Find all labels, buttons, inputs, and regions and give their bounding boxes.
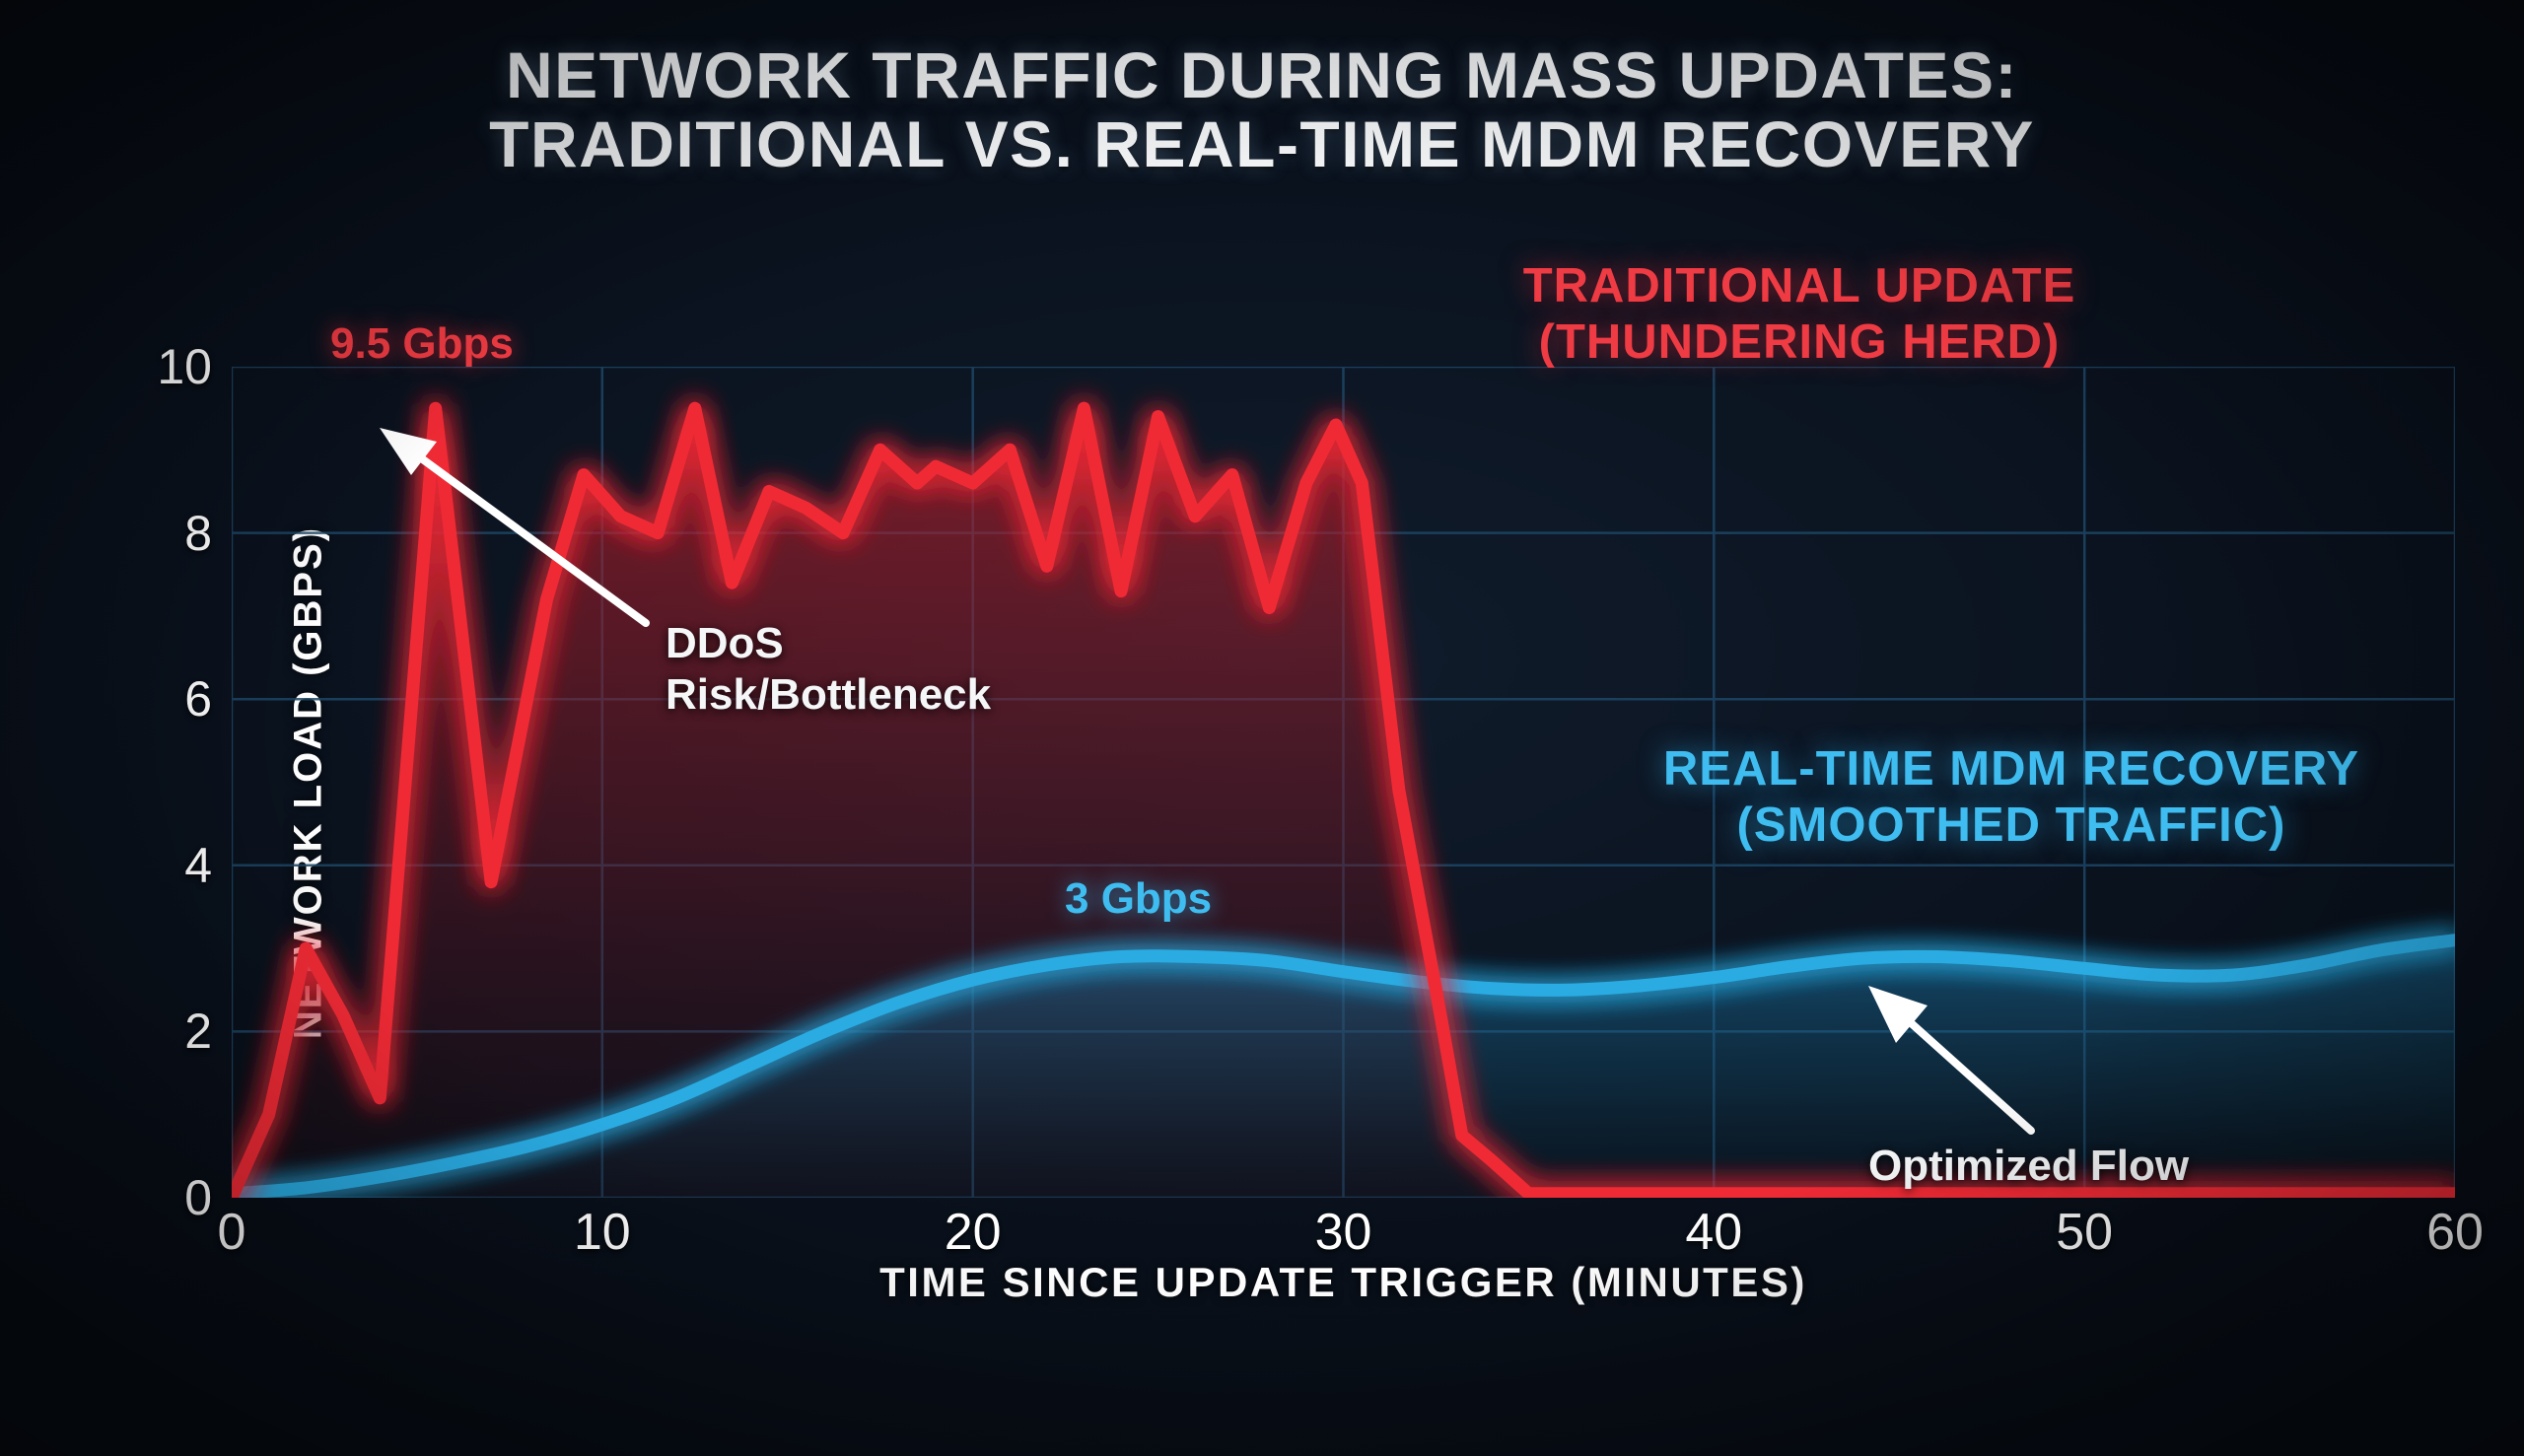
- legend-realtime-line-1: REAL-TIME MDM RECOVERY: [1543, 741, 2480, 797]
- x-tick-0: 0: [163, 1203, 301, 1262]
- legend-realtime-line-2: (SMOOTHED TRAFFIC): [1543, 797, 2480, 854]
- legend-realtime: REAL-TIME MDM RECOVERY (SMOOTHED TRAFFIC…: [1543, 741, 2480, 854]
- y-tick-8: 8: [94, 505, 212, 562]
- legend-traditional: TRADITIONAL UPDATE (THUNDERING HERD): [1405, 258, 2194, 371]
- chart-title: NETWORK TRAFFIC DURING MASS UPDATES: TRA…: [0, 41, 2524, 179]
- x-tick-60: 60: [2386, 1203, 2524, 1262]
- y-tick-6: 6: [94, 670, 212, 728]
- x-tick-30: 30: [1275, 1203, 1413, 1262]
- plot-area: NETWORK LOAD (GBPS) TIME SINCE UPDATE TR…: [232, 367, 2455, 1198]
- steady-value-annotation: 3 Gbps: [1065, 874, 1212, 924]
- optimized-flow-annotation: Optimized Flow: [1868, 1141, 2189, 1192]
- chart-title-line-2: TRADITIONAL VS. REAL-TIME MDM RECOVERY: [0, 110, 2524, 179]
- x-axis-label: TIME SINCE UPDATE TRIGGER (MINUTES): [232, 1259, 2455, 1306]
- y-tick-2: 2: [94, 1003, 212, 1060]
- legend-traditional-line-2: (THUNDERING HERD): [1405, 314, 2194, 371]
- x-tick-10: 10: [533, 1203, 671, 1262]
- y-tick-4: 4: [94, 837, 212, 894]
- x-tick-50: 50: [2015, 1203, 2153, 1262]
- x-tick-20: 20: [904, 1203, 1042, 1262]
- peak-value-annotation: 9.5 Gbps: [330, 319, 514, 369]
- x-tick-40: 40: [1645, 1203, 1783, 1262]
- ddos-risk-annotation: DDoS Risk/Bottleneck: [666, 618, 991, 721]
- y-tick-10: 10: [94, 338, 212, 395]
- legend-traditional-line-1: TRADITIONAL UPDATE: [1405, 258, 2194, 314]
- chart-title-line-1: NETWORK TRAFFIC DURING MASS UPDATES:: [506, 38, 2018, 111]
